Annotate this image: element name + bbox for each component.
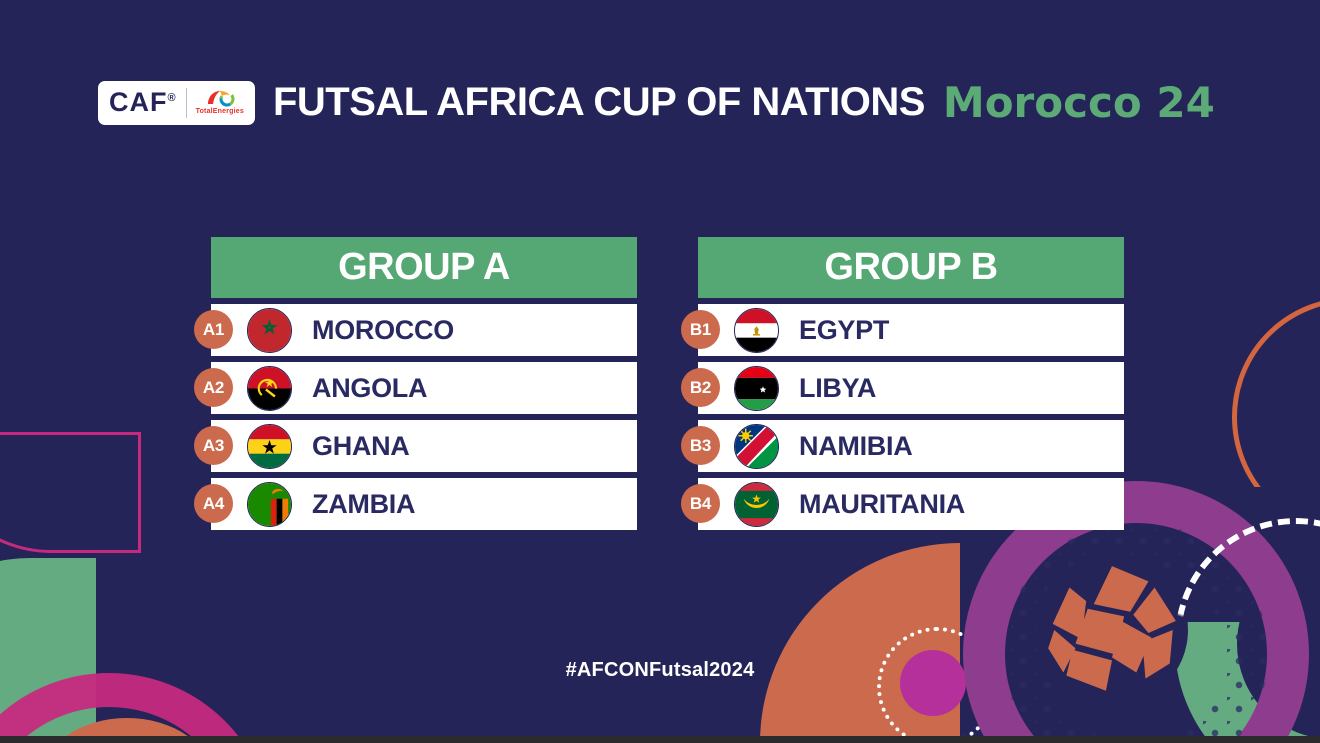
seed-badge: A4	[194, 484, 233, 523]
namibia-flag	[734, 424, 779, 469]
libya-flag	[734, 366, 779, 411]
angola-flag	[247, 366, 292, 411]
mauritania-flag	[734, 482, 779, 527]
orange-circle-outline	[1232, 297, 1320, 537]
table-row[interactable]: A1 MOROCCO	[211, 304, 637, 356]
table-row[interactable]: A2 ANGOLA	[211, 362, 637, 414]
green-quarter-arc	[1175, 487, 1320, 743]
poster-header: CAF® TotalEnergies FUTSAL AFRICA CUP OF …	[98, 78, 1215, 127]
group-b-title: GROUP B	[824, 246, 997, 289]
morocco-flag	[247, 308, 292, 353]
group-b-rows: B1 EGYPT B2	[698, 304, 1124, 530]
country-name: ZAMBIA	[312, 489, 415, 520]
caf-text: CAF	[109, 87, 168, 117]
white-dashed-curve	[1175, 518, 1320, 743]
seed-badge: B4	[681, 484, 720, 523]
country-name: MOROCCO	[312, 315, 454, 346]
caf-registered-mark: ®	[168, 92, 177, 104]
dotted-ring	[877, 627, 997, 743]
country-name: MAURITANIA	[799, 489, 965, 520]
zambia-flag	[247, 482, 292, 527]
group-a-rows: A1 MOROCCO A2	[211, 304, 637, 530]
seed-badge: A3	[194, 426, 233, 465]
totalenergies-mark	[205, 90, 235, 107]
country-name: GHANA	[312, 431, 410, 462]
pink-patterned-arc	[0, 673, 273, 743]
country-name: EGYPT	[799, 315, 889, 346]
futsal-ball-icon	[1036, 554, 1188, 706]
green-arc-mask	[1175, 487, 1320, 622]
group-a-header: GROUP A	[211, 237, 637, 298]
green-shape	[0, 558, 96, 743]
bottom-bar	[0, 736, 1320, 743]
caf-wordmark: CAF®	[109, 89, 177, 116]
seed-badge: A2	[194, 368, 233, 407]
group-b-header: GROUP B	[698, 237, 1124, 298]
groups-container: GROUP A A1 MOROCCO A2	[211, 237, 1124, 530]
page-subtitle: Morocco 24	[943, 78, 1215, 127]
caf-logo: CAF® TotalEnergies	[98, 81, 255, 125]
seed-badge: B3	[681, 426, 720, 465]
group-b: GROUP B B1 EGYPT B2	[698, 237, 1124, 530]
white-dome	[70, 736, 182, 743]
logo-divider	[186, 88, 187, 118]
orange-dome	[42, 718, 212, 743]
magenta-square-outline	[0, 432, 141, 553]
orange-quarter-circle	[760, 543, 960, 743]
egypt-flag	[734, 308, 779, 353]
seed-badge: A1	[194, 310, 233, 349]
poster-canvas: CAF® TotalEnergies FUTSAL AFRICA CUP OF …	[0, 0, 1320, 743]
country-name: LIBYA	[799, 373, 876, 404]
totalenergies-logo: TotalEnergies	[196, 90, 244, 115]
country-name: ANGOLA	[312, 373, 427, 404]
seed-badge: B2	[681, 368, 720, 407]
table-row[interactable]: A3 GHANA	[211, 420, 637, 472]
country-name: NAMIBIA	[799, 431, 912, 462]
ghana-flag	[247, 424, 292, 469]
seed-badge: B1	[681, 310, 720, 349]
table-row[interactable]: B3 NAMIBIA	[698, 420, 1124, 472]
hashtag: #AFCONFutsal2024	[0, 659, 1320, 682]
group-a: GROUP A A1 MOROCCO A2	[211, 237, 637, 530]
group-a-title: GROUP A	[338, 246, 510, 289]
page-title: FUTSAL AFRICA CUP OF NATIONS	[273, 80, 925, 125]
table-row[interactable]: B4 MAURITANIA	[698, 478, 1124, 530]
table-row[interactable]: B1 EGYPT	[698, 304, 1124, 356]
table-row[interactable]: A4 ZAMBIA	[211, 478, 637, 530]
totalenergies-wordmark: TotalEnergies	[196, 108, 244, 115]
table-row[interactable]: B2 LIBYA	[698, 362, 1124, 414]
